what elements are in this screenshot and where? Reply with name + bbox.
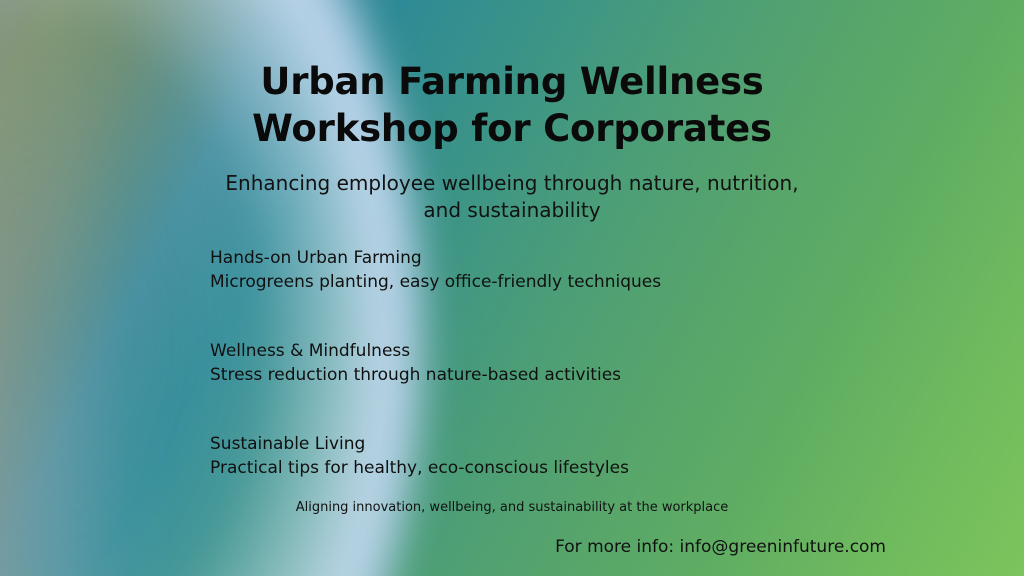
title-line-2: Workshop for Corporates	[0, 105, 1024, 152]
section-sustainable-living: Sustainable Living Practical tips for he…	[210, 432, 850, 480]
subtitle-line-2: and sustainability	[0, 197, 1024, 224]
slide-tagline: Aligning innovation, wellbeing, and sust…	[0, 500, 1024, 515]
section-wellness-mindfulness: Wellness & Mindfulness Stress reduction …	[210, 339, 850, 387]
section-heading: Wellness & Mindfulness	[210, 339, 850, 363]
section-detail: Microgreens planting, easy office-friend…	[210, 270, 850, 294]
contact-info: For more info: info@greeninfuture.com	[555, 537, 886, 557]
section-hands-on-urban-farming: Hands-on Urban Farming Microgreens plant…	[210, 246, 850, 294]
section-heading: Hands-on Urban Farming	[210, 246, 850, 270]
slide-sections: Hands-on Urban Farming Microgreens plant…	[210, 246, 850, 480]
slide-title: Urban Farming Wellness Workshop for Corp…	[0, 58, 1024, 152]
title-line-1: Urban Farming Wellness	[0, 58, 1024, 105]
section-heading: Sustainable Living	[210, 432, 850, 456]
section-detail: Stress reduction through nature-based ac…	[210, 363, 850, 387]
presentation-slide: Urban Farming Wellness Workshop for Corp…	[0, 0, 1024, 576]
slide-subtitle: Enhancing employee wellbeing through nat…	[0, 170, 1024, 224]
section-detail: Practical tips for healthy, eco-consciou…	[210, 456, 850, 480]
subtitle-line-1: Enhancing employee wellbeing through nat…	[0, 170, 1024, 197]
slide-content: Urban Farming Wellness Workshop for Corp…	[0, 0, 1024, 576]
